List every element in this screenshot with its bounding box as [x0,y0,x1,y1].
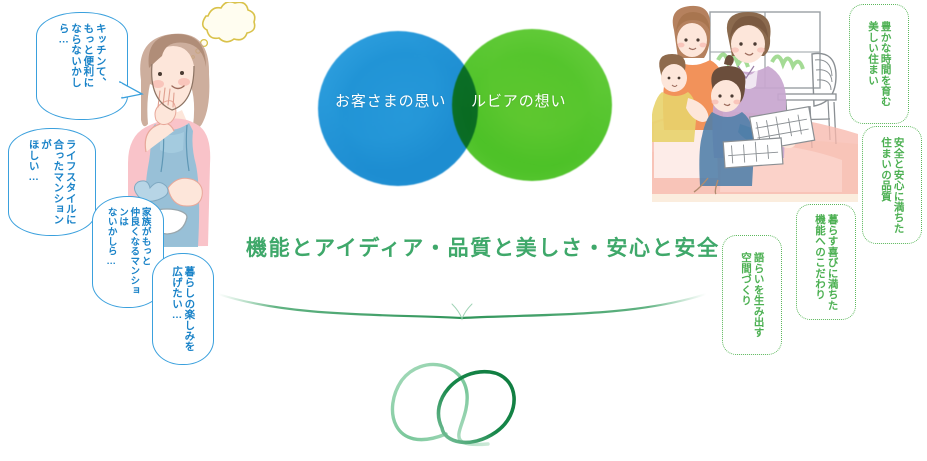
connecting-arc-graphic [212,268,712,340]
customer-voice-kitchen-text: キッチンて、 もっと便利に ならないかしら… [57,23,107,109]
customer-voice-lifestyle-text: ライフスタイルに 合ったマンションが ほしい… [27,139,77,225]
company-value-safe-quality-text: 安全と安心に満ちた 住まいの品質 [879,137,904,233]
customer-thought-blob-label: お客さまの思い [335,90,446,111]
company-value-space-text: 語らいを生み出す 空間づくり [739,252,764,338]
concept-diagram: キッチンて、 もっと便利に ならないかしら… ライフスタイルに 合ったマンション… [0,0,927,461]
company-value-function: 暮らす喜びに満ちた 機能へのこだわり [796,204,856,320]
customer-voice-enjoyment: 暮らしの楽しみを 広げたい… [152,253,214,365]
family-living-room-illustration [652,2,858,202]
customer-voice-lifestyle: ライフスタイルに 合ったマンションが ほしい… [8,128,96,236]
customer-voice-kitchen: キッチンて、 もっと便利に ならないかしら… [36,12,128,120]
company-value-space: 語らいを生み出す 空間づくり [722,235,782,355]
infinity-loops-graphic [372,352,532,460]
customer-voice-family-text: 家族がもっと 仲良くなるマンションは ないかしら… [105,207,150,297]
customer-voice-enjoyment-text: 暮らしの楽しみを 広げたい… [171,266,196,352]
company-value-safe-quality: 安全と安心に満ちた 住まいの品質 [862,126,922,244]
company-value-beautiful-home-text: 豊かな時間を育む 美しい住まい [866,21,891,107]
company-value-function-text: 暮らす喜びに満ちた 機能へのこだわり [813,214,838,310]
company-thought-blob-label: ルビアの想い [471,90,566,111]
company-value-beautiful-home: 豊かな時間を育む 美しい住まい [849,4,909,124]
customer-voice-kitchen-tail [118,80,144,106]
page-title: 機能とアイディア・品質と美しさ・安心と安全 [246,232,720,262]
